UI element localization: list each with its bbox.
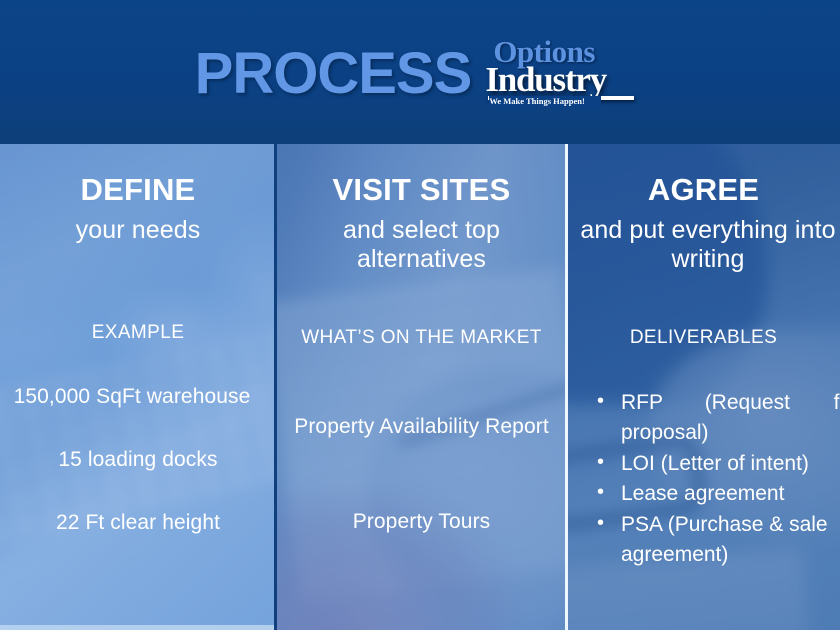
agree-heading: AGREE <box>567 173 840 207</box>
define-item-warehouse: 150,000 SqFt warehouse <box>0 384 270 409</box>
agree-section-label: DELIVERABLES <box>567 327 840 350</box>
deliverable-lease: Lease agreement <box>593 479 840 509</box>
visit-sites-section-label: WHAT’S ON THE MARKET <box>298 327 545 350</box>
process-columns: DEFINE your needs EXAMPLE 150,000 SqFt w… <box>0 144 840 630</box>
deliverable-rfp: RFP (Request for proposal) <box>593 388 840 449</box>
process-step-visit-sites: VISIT SITES and select top alternatives … <box>276 144 567 630</box>
define-section-label: EXAMPLE <box>0 322 276 345</box>
slide-header: PROCESS Options Industry We Make Things … <box>0 0 840 144</box>
visit-sites-heading: VISIT SITES <box>276 173 567 207</box>
visit-sites-subheading: and select top alternatives <box>292 216 551 274</box>
define-subheading: your needs <box>0 216 276 245</box>
define-content: DEFINE your needs EXAMPLE 150,000 SqFt w… <box>0 144 276 630</box>
define-item-docks: 15 loading docks <box>0 447 276 472</box>
column-divider-second <box>565 144 568 630</box>
define-item-height: 22 Ft clear height <box>0 510 276 535</box>
deliverable-loi-text: LOI (Letter of intent) <box>621 452 809 475</box>
deliverables-list: RFP (Request for proposal) LOI (Letter o… <box>593 388 840 571</box>
deliverable-rfp-suffix: for <box>834 388 840 418</box>
deliverable-loi: LOI (Letter of intent) <box>593 449 840 479</box>
header-content: PROCESS Options Industry We Make Things … <box>0 0 840 144</box>
bottom-light-strip <box>0 625 276 630</box>
process-step-agree: AGREE and put everything into writing DE… <box>567 144 840 630</box>
deliverable-rfp-mid: (Request <box>705 388 790 418</box>
define-heading: DEFINE <box>0 173 276 207</box>
logo-word-industry: Industry <box>485 62 606 97</box>
slide-title: PROCESS <box>195 45 472 103</box>
agree-content: AGREE and put everything into writing DE… <box>567 144 840 630</box>
column-divider-first <box>274 144 277 630</box>
deliverable-rfp-wrapped: proposal) <box>621 418 709 448</box>
visit-sites-content: VISIT SITES and select top alternatives … <box>276 144 567 630</box>
process-slide: PROCESS Options Industry We Make Things … <box>0 0 840 630</box>
deliverable-psa-text: PSA (Purchase & sale <box>621 513 828 536</box>
deliverable-psa-wrapped: agreement) <box>621 543 728 566</box>
deliverable-psa: PSA (Purchase & sale agreement) <box>593 510 840 571</box>
deliverable-rfp-prefix: RFP <box>621 388 663 418</box>
options-industry-logo: Options Industry We Make Things Happen! <box>485 36 645 114</box>
visit-sites-item-property-tours: Property Tours <box>276 509 567 534</box>
logo-tagline: We Make Things Happen! <box>489 96 601 108</box>
visit-sites-item-availability-report: Property Availability Report <box>294 414 549 439</box>
process-step-define: DEFINE your needs EXAMPLE 150,000 SqFt w… <box>0 144 276 630</box>
agree-subheading: and put everything into writing <box>569 216 840 274</box>
deliverable-lease-text: Lease agreement <box>621 482 784 505</box>
